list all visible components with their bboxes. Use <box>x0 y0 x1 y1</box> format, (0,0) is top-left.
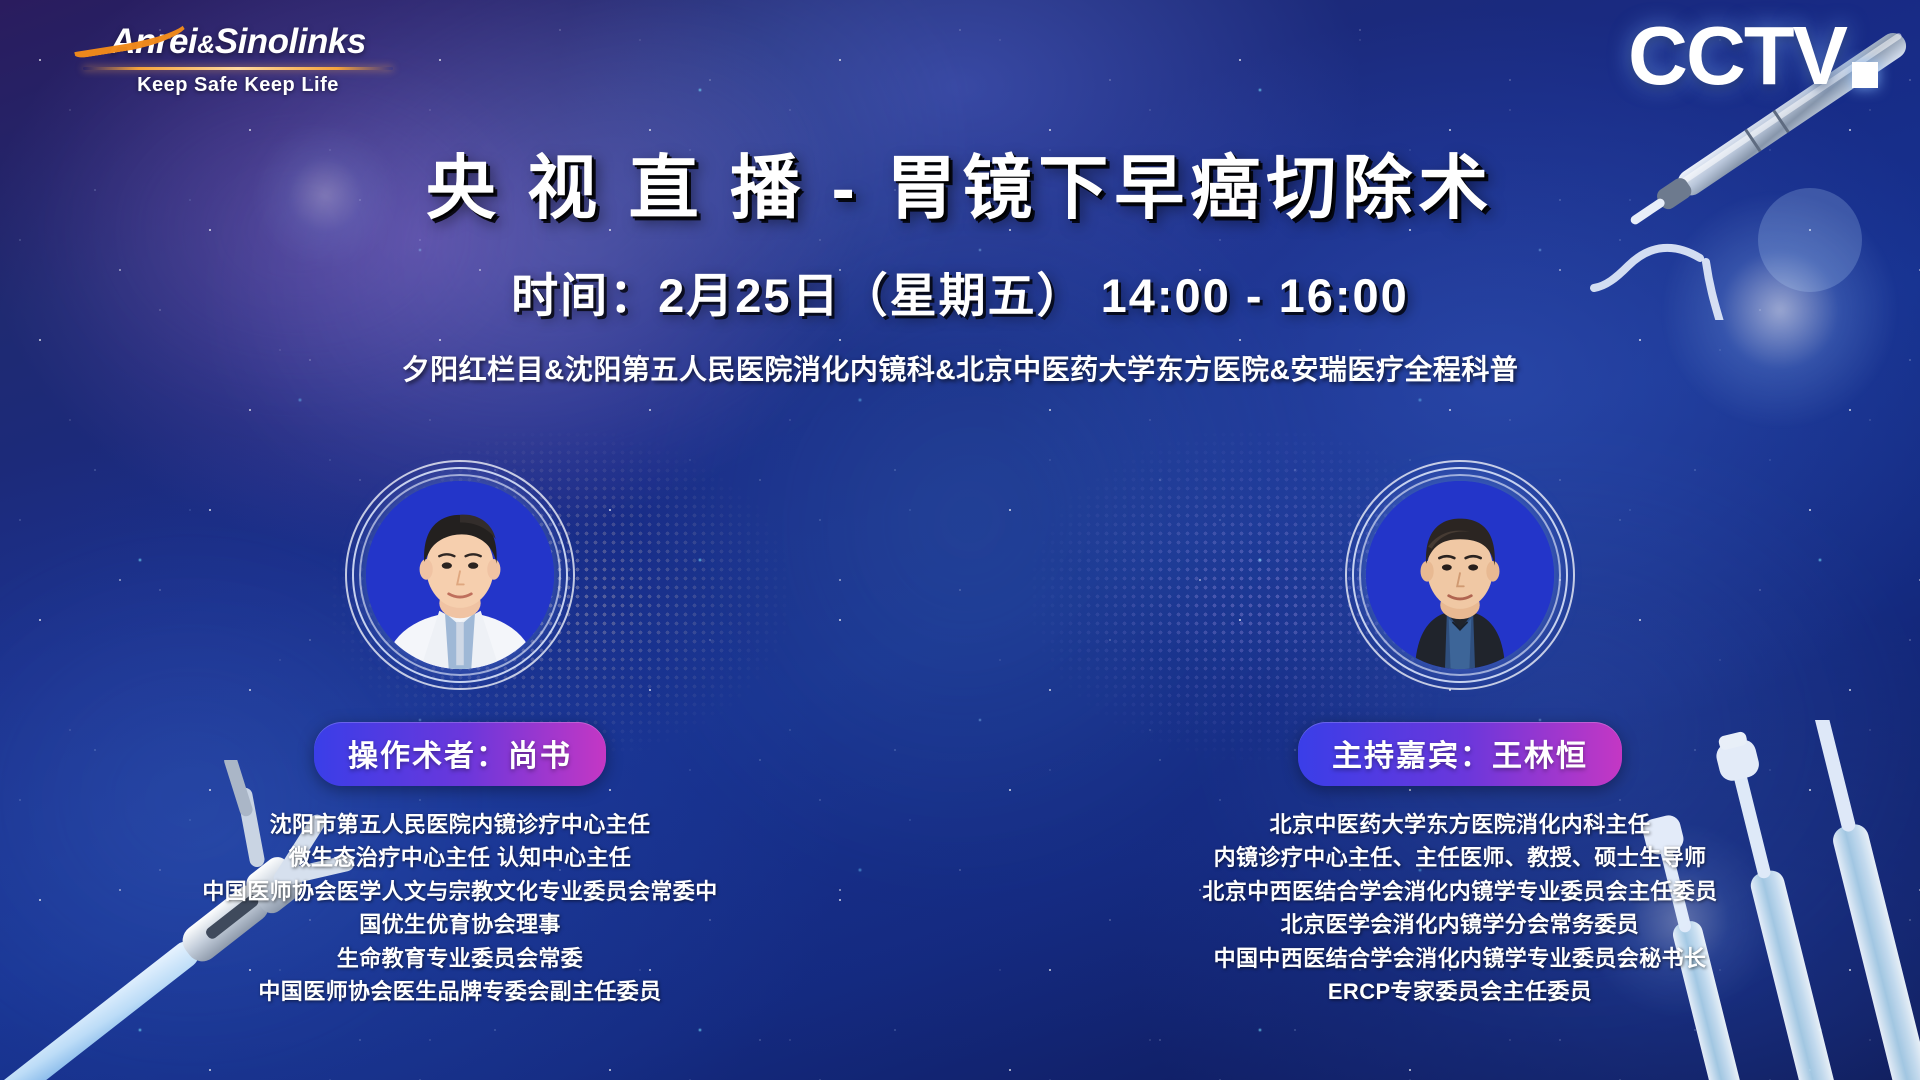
speakers-section: 操作术者：尚书 沈阳市第五人民医院内镜诊疗中心主任 微生态治疗中心主任 认知中心… <box>0 460 1920 1009</box>
speaker-role-badge: 操作术者：尚书 <box>314 722 606 786</box>
company-logo: Anrei&Sinolinks Keep Safe Keep Life <box>78 22 398 97</box>
credential-line: 北京医学会消化内镜学分会常务委员 <box>1140 908 1780 941</box>
event-time: 时间：2月25日（星期五） 14:00 - 16:00 <box>0 257 1920 326</box>
logo-divider <box>83 67 393 70</box>
credential-line: 北京中医药大学东方医院消化内科主任 <box>1140 808 1780 841</box>
brand-tagline: Keep Safe Keep Life <box>78 74 398 97</box>
headline-block: 央 视 直 播 - 胃镜下早癌切除术 时间：2月25日（星期五） 14:00 -… <box>0 132 1920 388</box>
cctv-logo-text: CCTV <box>1628 18 1846 94</box>
page-title: 央 视 直 播 - 胃镜下早癌切除术 <box>0 132 1920 233</box>
credential-line: 内镜诊疗中心主任、主任医师、教授、硕士生导师 <box>1140 841 1780 874</box>
avatar <box>345 460 575 690</box>
speaker-role-badge: 主持嘉宾：王林恒 <box>1298 722 1622 786</box>
credential-line: 沈阳市第五人民医院内镜诊疗中心主任 <box>140 808 780 841</box>
credential-line: 中国医师协会医生品牌专委会副主任委员 <box>140 975 780 1008</box>
cctv-logo: CCTV <box>1628 18 1878 94</box>
credential-line: ERCP专家委员会主任委员 <box>1140 975 1780 1008</box>
speaker-credentials-list: 北京中医药大学东方医院消化内科主任 内镜诊疗中心主任、主任医师、教授、硕士生导师… <box>1140 808 1780 1009</box>
avatar-photo-operator <box>366 481 554 669</box>
poster-canvas: Anrei&Sinolinks Keep Safe Keep Life CCTV… <box>0 0 1920 1080</box>
credential-line: 中国中西医结合学会消化内镜学专业委员会秘书长 <box>1140 942 1780 975</box>
brand-name-right: Sinolinks <box>215 22 366 61</box>
company-wordmark: Anrei&Sinolinks <box>78 22 398 62</box>
avatar <box>1345 460 1575 690</box>
credential-line: 微生态治疗中心主任 认知中心主任 <box>140 841 780 874</box>
cctv-logo-dot <box>1852 62 1878 88</box>
brand-ampersand: & <box>197 31 215 59</box>
credential-line: 国优生优育协会理事 <box>140 908 780 941</box>
speaker-card-host: 主持嘉宾：王林恒 北京中医药大学东方医院消化内科主任 内镜诊疗中心主任、主任医师… <box>1140 460 1780 1009</box>
speaker-card-operator: 操作术者：尚书 沈阳市第五人民医院内镜诊疗中心主任 微生态治疗中心主任 认知中心… <box>140 460 780 1009</box>
event-subtitle: 夕阳红栏目&沈阳第五人民医院消化内镜科&北京中医药大学东方医院&安瑞医疗全程科普 <box>0 348 1920 388</box>
speaker-credentials-list: 沈阳市第五人民医院内镜诊疗中心主任 微生态治疗中心主任 认知中心主任 中国医师协… <box>140 808 780 1009</box>
avatar-photo-host <box>1366 481 1554 669</box>
credential-line: 生命教育专业委员会常委 <box>140 942 780 975</box>
credential-line: 北京中西医结合学会消化内镜学专业委员会主任委员 <box>1140 875 1780 908</box>
credential-line: 中国医师协会医学人文与宗教文化专业委员会常委中 <box>140 875 780 908</box>
